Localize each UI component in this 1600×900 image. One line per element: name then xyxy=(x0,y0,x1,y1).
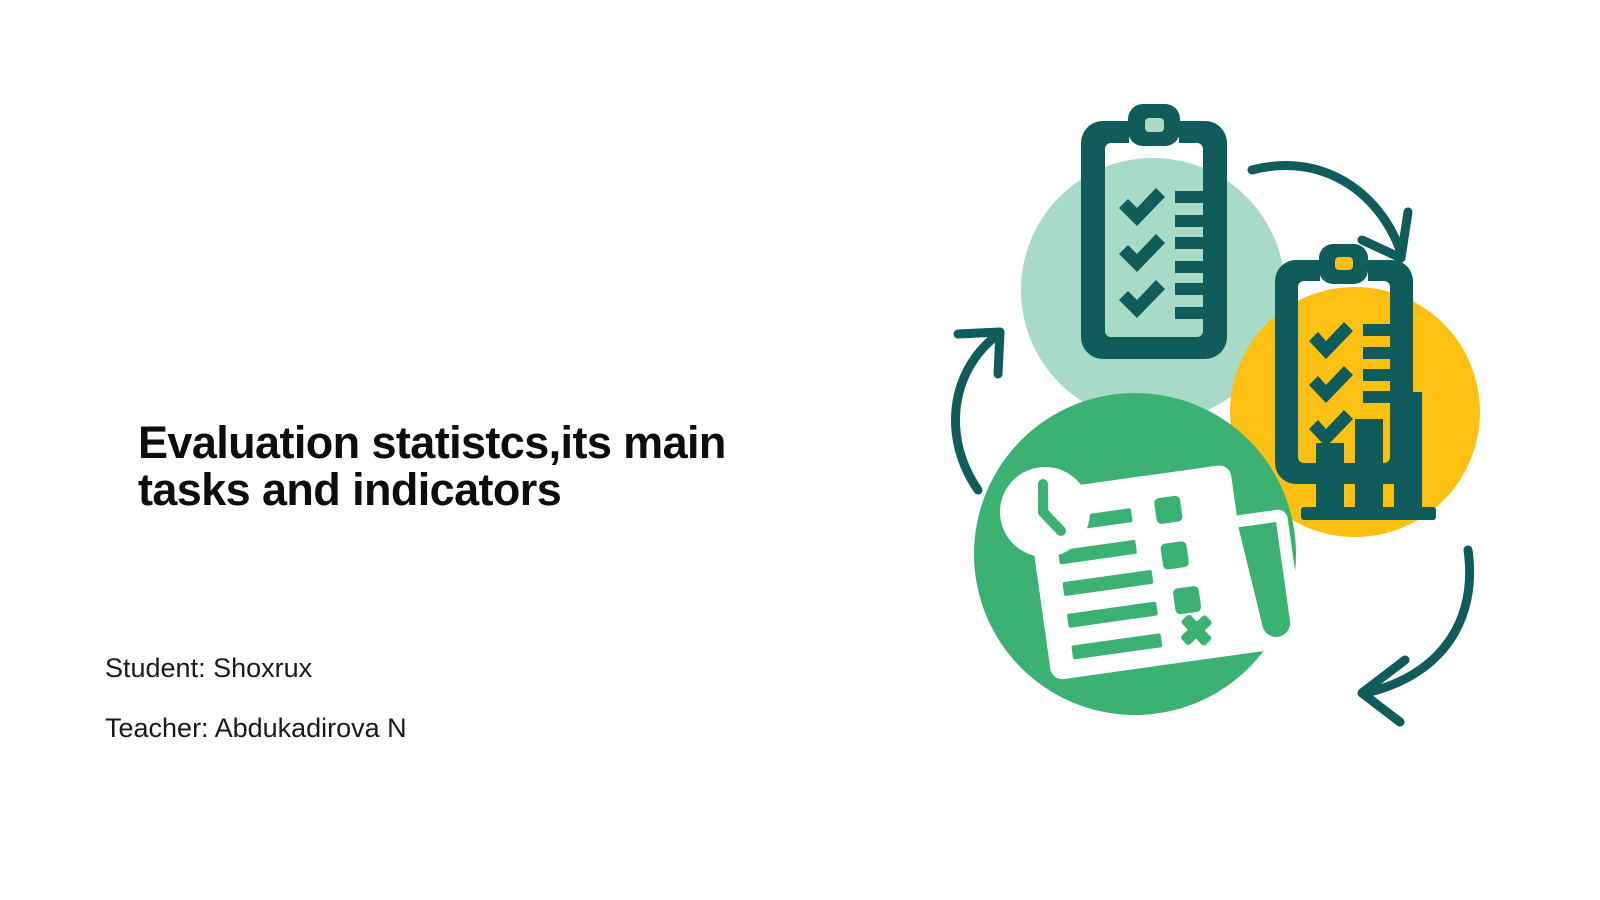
presentation-slide: Evaluation statistcs,its main tasks and … xyxy=(0,0,1600,900)
teacher-credit: Teacher: Abdukadirova N xyxy=(105,715,805,742)
student-credit: Student: Shoxrux xyxy=(105,655,805,682)
evaluation-statistics-illustration xyxy=(900,60,1600,840)
credits-list: Student: Shoxrux Teacher: Abdukadirova N xyxy=(105,655,805,775)
page-title: Evaluation statistcs,its main tasks and … xyxy=(138,420,818,514)
title-text-pane: Evaluation statistcs,its main tasks and … xyxy=(0,0,900,900)
arrow-left-icon xyxy=(955,332,1000,490)
arrow-bottom-right-icon xyxy=(1362,550,1470,722)
